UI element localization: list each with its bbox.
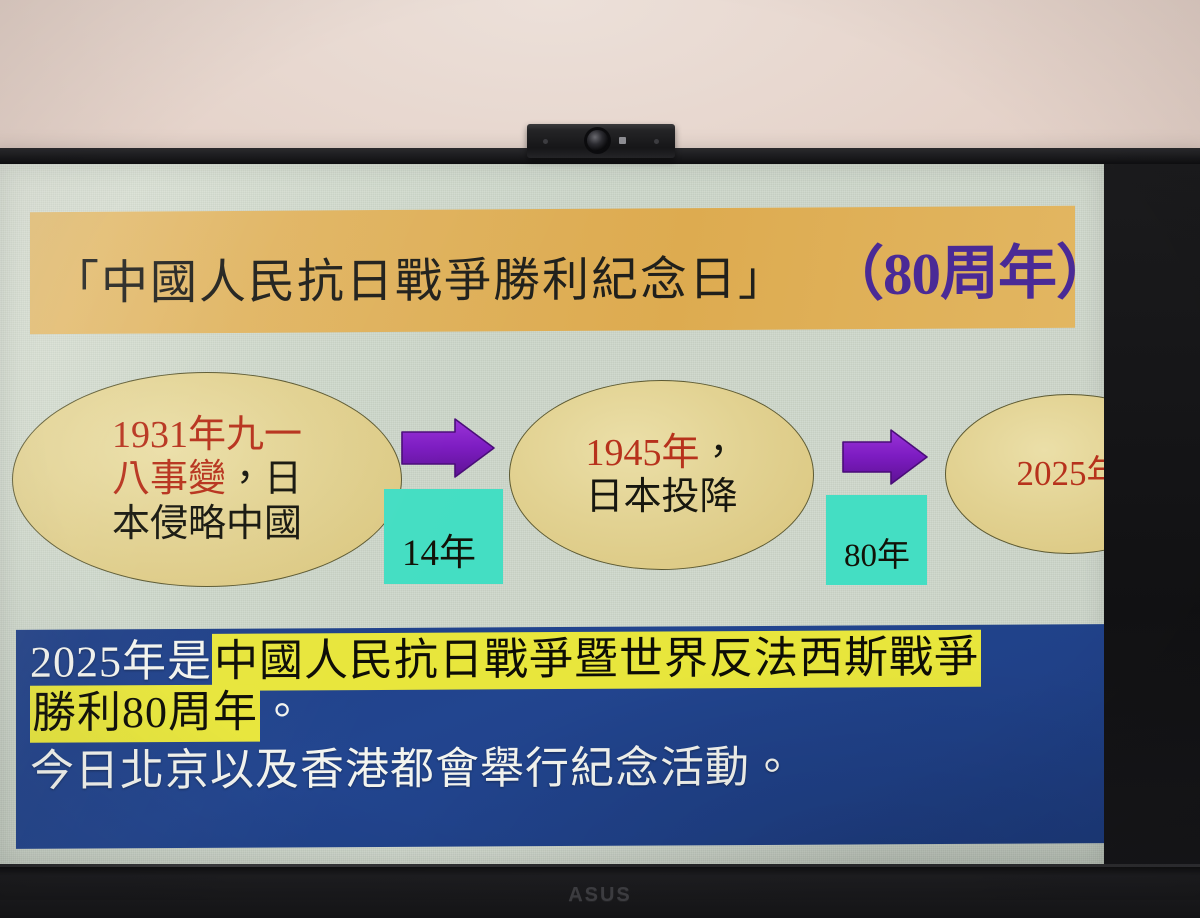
- node-1931-comma-text: ，日: [226, 458, 302, 500]
- summary-line-2-period: 。: [260, 687, 304, 736]
- webcam-lens-icon: [587, 130, 608, 151]
- node-1931-line-2: 八事變，日: [112, 457, 302, 501]
- summary-line-1-lead: 2025年是: [30, 637, 212, 687]
- computer-monitor: 「中國人民抗日戰爭勝利紀念日」 （80周年） 1931年九一 八事變，日 本侵略…: [0, 148, 1200, 918]
- slide-title-main: 「中國人民抗日戰爭勝利紀念日」: [52, 239, 787, 312]
- node-1945-line-2: 日本投降: [585, 475, 737, 519]
- timeline-gap-14: 14年: [384, 489, 503, 584]
- node-2025-year-text: 2025年: [1016, 454, 1104, 493]
- webcam-device: [527, 124, 675, 158]
- summary-line-1-highlight: 中國人民抗日戰爭暨世界反法西斯戰爭: [212, 630, 981, 691]
- webcam-screw-left: [543, 139, 548, 144]
- node-1931-line-1: 1931年九一: [112, 413, 302, 457]
- node-1945-year-text: 1945年: [585, 432, 699, 474]
- timeline-gap-80-label: 80年: [844, 540, 910, 573]
- timeline-node-2025-text: 2025年: [1004, 454, 1104, 495]
- timeline-node-2025: 2025年: [945, 394, 1104, 554]
- summary-line-3: 今日北京以及香港都會舉行紀念活動。: [30, 743, 1104, 795]
- monitor-bottom-bezel: ASUS: [0, 864, 1200, 918]
- timeline-node-1931-text: 1931年九一 八事變，日 本侵略中國: [100, 413, 314, 545]
- summary-line-2: 勝利80周年。: [30, 685, 1104, 737]
- node-1945-line-1: 1945年，: [585, 431, 737, 475]
- node-1931-year-text: 1931年九一: [112, 414, 302, 456]
- webcam-indicator-led: [619, 137, 626, 144]
- right-arrow-icon: [841, 428, 929, 486]
- bezel-hairline: [0, 864, 1200, 867]
- timeline-node-1945-text: 1945年， 日本投降: [573, 431, 749, 519]
- webcam-screw-right: [654, 139, 659, 144]
- slide-title-banner: 「中國人民抗日戰爭勝利紀念日」 （80周年）: [30, 206, 1075, 334]
- slide-title-anniversary: （80周年）: [825, 224, 1104, 311]
- node-1931-event-text: 八事變: [112, 458, 226, 500]
- summary-line-1: 2025年是中國人民抗日戰爭暨世界反法西斯戰爭: [30, 634, 1104, 686]
- timeline-node-1945: 1945年， 日本投降: [509, 380, 814, 570]
- right-arrow-icon: [400, 417, 496, 479]
- node-1931-line-3: 本侵略中國: [112, 502, 302, 546]
- presentation-slide: 「中國人民抗日戰爭勝利紀念日」 （80周年） 1931年九一 八事變，日 本侵略…: [0, 164, 1104, 864]
- title-line: 「中國人民抗日戰爭勝利紀念日」 （80周年）: [52, 224, 1104, 315]
- timeline-gap-80: 80年: [826, 495, 927, 585]
- timeline-gap-14-label: 14年: [402, 535, 476, 572]
- node-1931-detail-text: 本侵略中國: [112, 503, 302, 545]
- node-1945-event-text: 日本投降: [585, 476, 737, 518]
- slide-summary-panel: 2025年是中國人民抗日戰爭暨世界反法西斯戰爭 勝利80周年。 今日北京以及香港…: [16, 624, 1104, 849]
- timeline-node-1931: 1931年九一 八事變，日 本侵略中國: [12, 372, 402, 587]
- summary-line-3-text: 今日北京以及香港都會舉行紀念活動。: [30, 743, 795, 796]
- monitor-brand-logo: ASUS: [568, 884, 632, 907]
- monitor-screen[interactable]: 「中國人民抗日戰爭勝利紀念日」 （80周年） 1931年九一 八事變，日 本侵略…: [0, 164, 1104, 864]
- summary-line-2-highlight: 勝利80周年: [30, 684, 260, 742]
- node-1945-comma-text: ，: [700, 432, 738, 474]
